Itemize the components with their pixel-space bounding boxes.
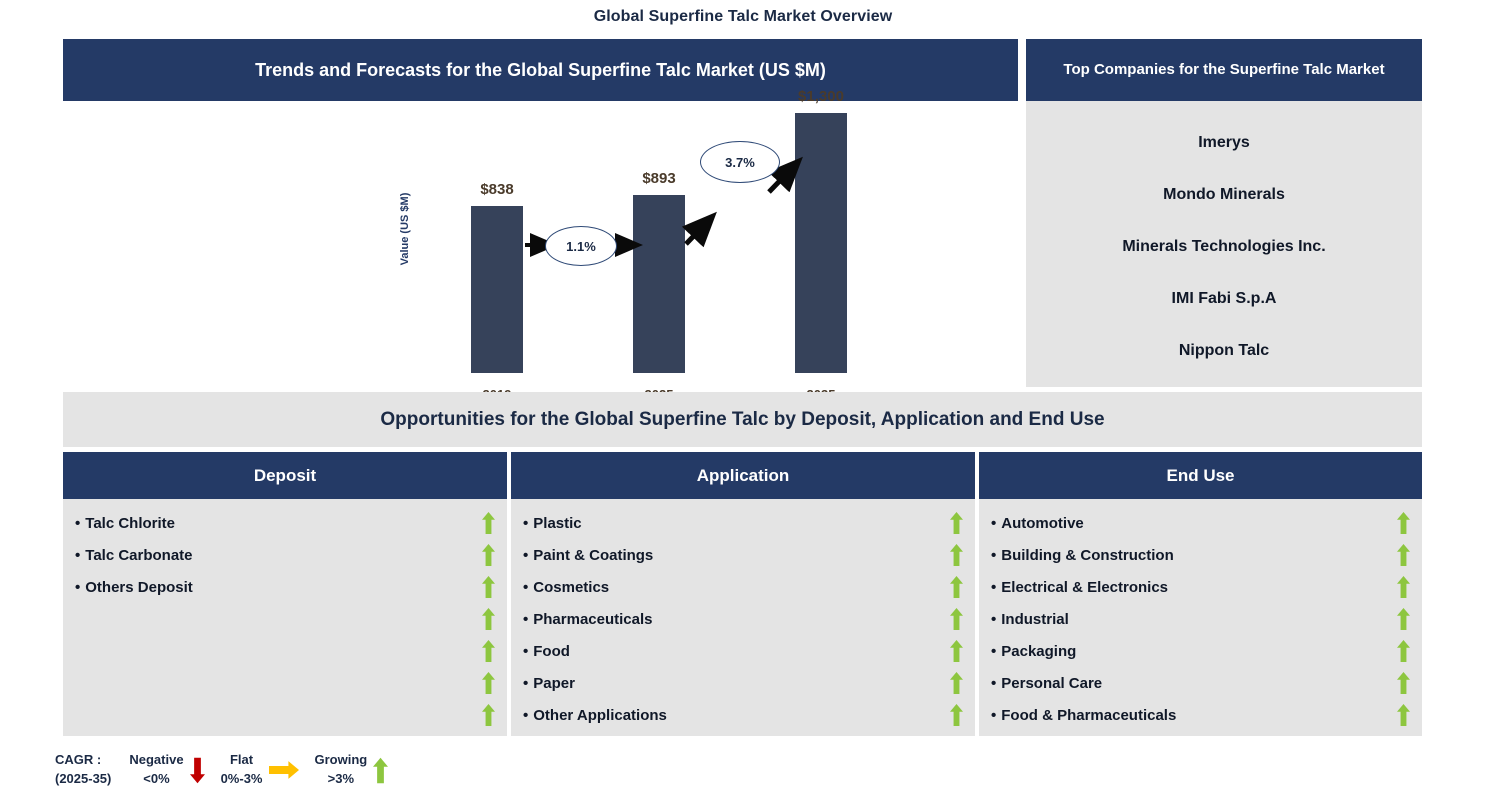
legend-item-range: >3% (315, 770, 368, 789)
list-item (63, 635, 507, 667)
chart-bar-2035 (795, 113, 847, 373)
list-item-label: Other Applications (533, 707, 667, 724)
bullet-icon: • (523, 643, 528, 660)
bullet-icon: • (523, 547, 528, 564)
list-item: •Talc Chlorite (63, 507, 507, 539)
legend-item-range: <0% (129, 770, 183, 789)
bullet-icon: • (523, 611, 528, 628)
arrow-right-orange-icon (269, 761, 299, 779)
arrow-up-green-icon (482, 704, 495, 727)
opportunity-column-end-use: End Use •Automotive•Building & Construct… (979, 452, 1422, 736)
arrow-up-green-icon (950, 640, 963, 663)
column-body-deposit: •Talc Chlorite•Talc Carbonate•Others Dep… (63, 499, 507, 736)
bullet-icon: • (991, 579, 996, 596)
bullet-icon: • (523, 707, 528, 724)
legend-item-label: Growing (315, 751, 368, 770)
bullet-icon: • (523, 675, 528, 692)
company-item: Nippon Talc (1026, 325, 1422, 377)
company-item: Mondo Minerals (1026, 169, 1422, 221)
arrow-up-green-icon (1397, 512, 1410, 535)
list-item: •Paint & Coatings (511, 539, 975, 571)
bullet-icon: • (75, 515, 80, 532)
arrow-up-green-icon (1397, 608, 1410, 631)
arrow-down-red-icon (190, 757, 205, 784)
list-item-label: Talc Carbonate (85, 547, 192, 564)
chart-bar-2019 (471, 206, 523, 373)
legend-items: Negative<0%Flat0%-3%Growing>3% (129, 751, 404, 789)
list-item: •Automotive (979, 507, 1422, 539)
arrow-up-green-icon (1397, 544, 1410, 567)
arrow-up-green-icon (373, 757, 388, 784)
top-companies-header: Top Companies for the Superfine Talc Mar… (1026, 39, 1422, 101)
arrow-up-green-icon (1397, 704, 1410, 727)
column-body-end-use: •Automotive•Building & Construction•Elec… (979, 499, 1422, 736)
bullet-icon: • (991, 707, 996, 724)
arrow-up-green-icon (950, 704, 963, 727)
list-item-label: Talc Chlorite (85, 515, 175, 532)
bullet-icon: • (75, 547, 80, 564)
list-item: •Cosmetics (511, 571, 975, 603)
chart-bar-value-2035: $1,300 (761, 88, 881, 105)
company-item: Minerals Technologies Inc. (1026, 221, 1422, 273)
arrow-up-green-icon (1397, 672, 1410, 695)
legend-item-range: 0%-3% (221, 770, 263, 789)
column-header-application: Application (511, 452, 975, 499)
list-item (63, 699, 507, 731)
bullet-icon: • (75, 579, 80, 596)
column-header-deposit: Deposit (63, 452, 507, 499)
legend-item-negative: Negative<0% (129, 751, 204, 789)
bullet-icon: • (991, 643, 996, 660)
list-item-label: Electrical & Electronics (1001, 579, 1168, 596)
legend-item-flat: Flat0%-3% (221, 751, 299, 789)
arrow-up-green-icon (482, 608, 495, 631)
list-item: •Others Deposit (63, 571, 507, 603)
arrow-up-green-icon (1397, 640, 1410, 663)
chart-bar-2025 (633, 195, 685, 373)
arrow-up-green-icon (950, 608, 963, 631)
list-item-label: Paper (533, 675, 575, 692)
top-companies-list: ImerysMondo MineralsMinerals Technologie… (1026, 101, 1422, 387)
list-item-label: Pharmaceuticals (533, 611, 652, 628)
list-item: •Electrical & Electronics (979, 571, 1422, 603)
arrow-up-green-icon (482, 672, 495, 695)
bullet-icon: • (991, 675, 996, 692)
list-item: •Industrial (979, 603, 1422, 635)
list-item: •Food & Pharmaceuticals (979, 699, 1422, 731)
legend-item-growing: Growing>3% (315, 751, 389, 789)
bullet-icon: • (991, 611, 996, 628)
list-item: •Building & Construction (979, 539, 1422, 571)
list-item: •Plastic (511, 507, 975, 539)
arrow-up-green-icon (1397, 576, 1410, 599)
company-item: IMI Fabi S.p.A (1026, 273, 1422, 325)
list-item-label: Others Deposit (85, 579, 193, 596)
arrow-up-green-icon (482, 512, 495, 535)
arrow-up-green-icon (482, 544, 495, 567)
bullet-icon: • (991, 547, 996, 564)
list-item-label: Packaging (1001, 643, 1076, 660)
legend-cagr-label: CAGR : (2025-35) (55, 751, 111, 789)
opportunity-column-deposit: Deposit •Talc Chlorite•Talc Carbonate•Ot… (63, 452, 507, 736)
list-item-label: Plastic (533, 515, 581, 532)
legend-item-label: Flat (221, 751, 263, 770)
column-body-application: •Plastic•Paint & Coatings•Cosmetics•Phar… (511, 499, 975, 736)
list-item-label: Automotive (1001, 515, 1084, 532)
list-item-label: Paint & Coatings (533, 547, 653, 564)
bullet-icon: • (523, 579, 528, 596)
opportunity-column-application: Application •Plastic•Paint & Coatings•Co… (511, 452, 975, 736)
list-item-label: Building & Construction (1001, 547, 1173, 564)
chart-bar-value-2025: $893 (599, 170, 719, 187)
bullet-icon: • (523, 515, 528, 532)
list-item: •Talc Carbonate (63, 539, 507, 571)
arrow-up-green-icon (950, 576, 963, 599)
chart-y-axis-label: Value (US $M) (399, 164, 419, 294)
list-item-label: Food & Pharmaceuticals (1001, 707, 1176, 724)
legend-cagr-line1: CAGR : (55, 751, 111, 770)
list-item-label: Cosmetics (533, 579, 609, 596)
trends-panel: Trends and Forecasts for the Global Supe… (63, 39, 1018, 387)
arrow-up-green-icon (950, 544, 963, 567)
list-item: •Other Applications (511, 699, 975, 731)
bullet-icon: • (991, 515, 996, 532)
arrow-up-green-icon (482, 640, 495, 663)
cagr-bubble-2019-2025: 1.1% (545, 226, 617, 266)
infographic-page: Global Superfine Talc Market Overview Tr… (0, 0, 1486, 800)
list-item: •Paper (511, 667, 975, 699)
list-item-label: Food (533, 643, 570, 660)
opportunities-banner: Opportunities for the Global Superfine T… (63, 392, 1422, 447)
legend-item-label: Negative (129, 751, 183, 770)
list-item: •Food (511, 635, 975, 667)
list-item (63, 667, 507, 699)
page-title: Global Superfine Talc Market Overview (0, 8, 1486, 26)
chart-bar-value-2019: $838 (437, 181, 557, 198)
column-header-end-use: End Use (979, 452, 1422, 499)
arrow-up-green-icon (482, 576, 495, 599)
company-item: Imerys (1026, 117, 1422, 169)
arrow-up-green-icon (950, 672, 963, 695)
cagr-bubble-2025-2035: 3.7% (700, 141, 780, 183)
cagr-legend: CAGR : (2025-35) Negative<0%Flat0%-3%Gro… (55, 746, 404, 794)
list-item: •Pharmaceuticals (511, 603, 975, 635)
cagr-arrow-connectors (63, 101, 1018, 387)
legend-cagr-line2: (2025-35) (55, 770, 111, 789)
bar-chart: Value (US $M) $8382019$8932025$1,3002035… (63, 101, 1018, 387)
list-item: •Personal Care (979, 667, 1422, 699)
arrow-up-green-icon (950, 512, 963, 535)
list-item-label: Industrial (1001, 611, 1069, 628)
list-item: •Packaging (979, 635, 1422, 667)
top-companies-panel: Top Companies for the Superfine Talc Mar… (1026, 39, 1422, 387)
list-item-label: Personal Care (1001, 675, 1102, 692)
list-item (63, 603, 507, 635)
